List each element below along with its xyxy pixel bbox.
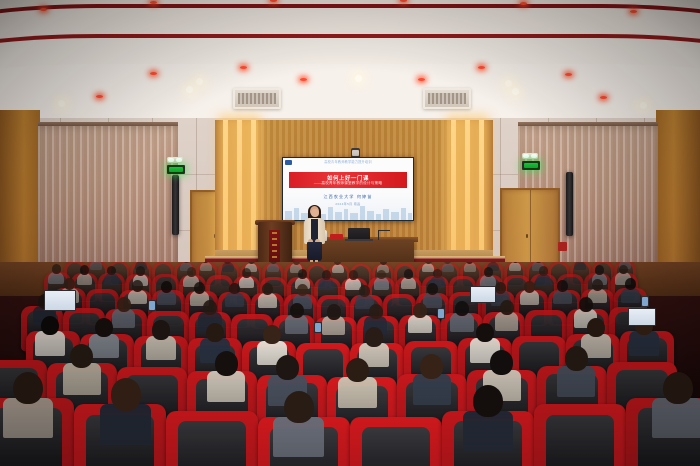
audience-member-head xyxy=(579,297,593,312)
audience-member-torso xyxy=(509,262,521,271)
downlight xyxy=(196,78,203,85)
audience-member-head xyxy=(187,267,196,277)
exit-sign-right[interactable] xyxy=(522,161,540,170)
audience-member-torso xyxy=(200,262,212,271)
audience-member-head xyxy=(276,355,299,380)
audience-member-torso xyxy=(574,262,586,270)
red-box xyxy=(330,234,343,240)
emergency-light-left xyxy=(167,157,183,163)
downlight xyxy=(58,100,65,107)
downlight xyxy=(512,88,519,95)
audience-member xyxy=(473,385,503,450)
ceiling-led xyxy=(150,72,157,75)
audience-member xyxy=(229,283,240,307)
audience-member-head xyxy=(592,279,603,291)
audience-member xyxy=(557,280,568,304)
attendee-phone[interactable] xyxy=(148,300,156,311)
audience-member-head xyxy=(524,281,535,293)
audience-member xyxy=(13,372,43,437)
audience-member xyxy=(242,268,251,287)
ceiling-led xyxy=(96,95,103,98)
audience-member xyxy=(500,300,514,330)
presenter xyxy=(302,206,326,268)
attendee-phone[interactable] xyxy=(314,322,322,333)
seat[interactable] xyxy=(534,404,626,466)
audience-member-head xyxy=(327,304,341,319)
audience-member-head xyxy=(262,283,273,295)
audience-member xyxy=(327,304,341,334)
audience-member xyxy=(625,278,636,302)
audience-member xyxy=(270,262,277,272)
audience-member xyxy=(413,303,427,333)
audience-member xyxy=(512,262,519,271)
audience-member xyxy=(404,269,413,288)
audience-member xyxy=(152,320,170,359)
audience-member-head xyxy=(242,268,251,278)
audience-member-head xyxy=(117,297,131,312)
audience-member xyxy=(95,318,113,357)
audience-member xyxy=(132,280,143,304)
audience-member-head xyxy=(229,283,240,295)
audience-member-head xyxy=(284,391,314,423)
audience-member-head xyxy=(619,265,628,275)
audience-member-head xyxy=(107,266,116,276)
audience-member-head xyxy=(111,378,141,410)
attendee-laptop[interactable] xyxy=(470,286,496,303)
presenter-face xyxy=(311,209,319,217)
audience-member xyxy=(111,378,141,443)
audience-seating xyxy=(0,262,700,466)
audience-member xyxy=(425,262,432,272)
curtain-rod xyxy=(518,122,658,126)
audience-member-head xyxy=(349,270,358,280)
audience-member-head xyxy=(95,318,113,337)
audience-member-head xyxy=(495,282,506,294)
audience-member xyxy=(444,262,451,272)
audience-member xyxy=(92,262,99,269)
audience-member-torso xyxy=(621,288,639,303)
ceiling-led xyxy=(520,2,527,5)
downlight xyxy=(505,80,512,87)
audience-member xyxy=(484,267,493,286)
audience-member xyxy=(161,281,172,305)
audience-member-torso xyxy=(338,377,377,408)
wall-light-strip xyxy=(451,120,456,268)
emergency-light-right xyxy=(522,153,538,159)
wall-light-strip xyxy=(251,120,256,268)
microphone-arm xyxy=(378,230,390,231)
audience-member-head xyxy=(298,269,307,279)
ceiling-led xyxy=(600,96,607,99)
audience-member-head xyxy=(194,282,205,294)
ceiling-led xyxy=(300,78,307,81)
audience-member-torso xyxy=(267,263,279,272)
audience-member-head xyxy=(500,300,514,315)
audience-member-head xyxy=(290,303,304,318)
audience-member-torso xyxy=(63,363,102,394)
audience-member xyxy=(427,283,438,307)
audience-member-head xyxy=(377,270,386,280)
downlight xyxy=(640,102,647,109)
audience-member xyxy=(349,270,358,289)
audience-member-head xyxy=(365,327,383,346)
line-array-speaker-left xyxy=(172,175,179,235)
slide-header-text: 高校青年教师教学能力提升培训 xyxy=(283,159,413,164)
audience-member xyxy=(262,283,273,307)
ceiling-led xyxy=(150,1,157,4)
slide-presenter-line: 江西农业大学 何婷苗 xyxy=(283,194,413,200)
attendee-laptop[interactable] xyxy=(44,290,76,311)
audience-member-head xyxy=(136,266,145,276)
wall-light-strip xyxy=(237,120,242,268)
exit-door-right[interactable] xyxy=(500,188,560,272)
audience-member-head xyxy=(404,269,413,279)
audience-member-head xyxy=(455,301,469,316)
audience-member-head xyxy=(64,278,75,290)
audience-member-head xyxy=(52,264,61,274)
audience-member-head xyxy=(663,372,693,404)
downlight xyxy=(186,86,193,93)
slide-title-band: 如何上好一门课 ——高校青年教师课堂教学的设计与策略 xyxy=(289,172,407,188)
audience-member-torso xyxy=(90,262,102,270)
audience-member-head xyxy=(490,350,513,375)
wall-light-strip xyxy=(223,120,228,268)
audience-member xyxy=(663,372,693,437)
audience-member xyxy=(41,316,59,355)
audience-member-head xyxy=(359,285,370,297)
audience-member-head xyxy=(625,278,636,290)
door-handle[interactable] xyxy=(526,234,528,238)
audience-member xyxy=(592,279,603,303)
downlight xyxy=(355,75,362,82)
audience-member-head xyxy=(132,280,143,292)
audience-member xyxy=(224,262,231,271)
ceiling-led xyxy=(630,10,637,13)
ceiling-led xyxy=(418,78,425,81)
audience-member xyxy=(565,346,588,396)
line-array-speaker-right xyxy=(566,172,573,236)
audience-member-head xyxy=(322,270,331,280)
audience-member xyxy=(334,262,341,273)
audience-member-head xyxy=(565,346,588,371)
presenter-skirt xyxy=(307,242,322,261)
audience-member xyxy=(107,266,116,285)
audience-member-head xyxy=(557,280,568,292)
audience-member-head xyxy=(41,316,59,335)
audience-member xyxy=(539,266,548,285)
audience-member-torso xyxy=(374,277,389,289)
audience-member xyxy=(377,270,386,289)
ceiling-led xyxy=(40,8,47,11)
audience-member xyxy=(52,264,61,283)
audience-member xyxy=(420,354,443,404)
audience-member xyxy=(70,344,93,394)
audience-member-head xyxy=(369,304,383,319)
audience-member-torso xyxy=(112,309,136,328)
laptop-keyboard[interactable] xyxy=(345,239,373,241)
slide-subtitle: ——高校青年教师课堂教学的设计与策略 xyxy=(289,181,407,186)
audience-member-head xyxy=(203,300,217,315)
audience-member-head xyxy=(70,344,93,369)
ceiling-led xyxy=(565,73,572,76)
audience-member-head xyxy=(215,351,238,376)
audience-member-head xyxy=(433,269,442,279)
audience-member xyxy=(80,265,89,284)
audience-member-head xyxy=(420,354,443,379)
audience-member-head xyxy=(138,262,145,263)
audience-member xyxy=(290,303,304,333)
audience-member-head xyxy=(539,266,548,276)
audience-member xyxy=(466,262,473,271)
audience-member-head xyxy=(152,320,170,339)
audience-member-head xyxy=(80,265,89,275)
audience-member-head xyxy=(476,323,494,342)
audience-member xyxy=(346,358,369,408)
podium-banner xyxy=(269,230,280,264)
audience-member-head xyxy=(206,323,224,342)
fire-extinguisher-cabinet[interactable] xyxy=(558,242,567,251)
audience-member-head xyxy=(13,372,43,404)
attendee-phone[interactable] xyxy=(641,296,649,307)
audience-member xyxy=(284,391,314,456)
curtain-left xyxy=(38,122,178,272)
seat[interactable] xyxy=(166,411,258,466)
audience-member-torso xyxy=(332,264,344,273)
ceiling-led xyxy=(240,66,247,69)
attendee-phone[interactable] xyxy=(437,308,445,319)
audience-member-torso xyxy=(225,292,243,307)
wall-light-strip xyxy=(465,120,470,268)
seat[interactable] xyxy=(350,417,442,466)
audience-member-head xyxy=(484,267,493,277)
attendee-laptop[interactable] xyxy=(628,308,656,326)
audience-member-head xyxy=(161,281,172,293)
audience-member-head xyxy=(473,385,503,417)
exit-sign-left[interactable] xyxy=(167,165,185,174)
audience-member-head xyxy=(587,318,605,337)
audience-member xyxy=(215,351,238,401)
microphone-stand xyxy=(378,231,379,240)
audience-member xyxy=(455,301,469,331)
ceiling-vent xyxy=(233,88,281,109)
audience-member-head xyxy=(595,265,604,275)
curtain-rod xyxy=(38,122,178,126)
audience-member-torso xyxy=(258,293,276,308)
audience-member-torso xyxy=(104,273,119,285)
audience-member xyxy=(576,262,583,270)
audience-member xyxy=(524,281,535,305)
audience-member xyxy=(117,297,131,327)
audience-member xyxy=(202,262,209,271)
audience-member xyxy=(587,318,605,357)
audience-member-head xyxy=(346,358,369,383)
audience-member-head xyxy=(413,303,427,318)
ceiling-vent xyxy=(423,88,471,109)
audience-member-head xyxy=(297,284,308,296)
audience-member xyxy=(322,270,331,289)
audience-member-head xyxy=(427,283,438,295)
ceiling-led xyxy=(478,66,485,69)
audience-member-torso xyxy=(450,313,474,332)
wall-light-strip xyxy=(479,120,484,268)
auditorium-photo: 高校青年教师教学能力提升培训 如何上好一门课 ——高校青年教师课堂教学的设计与策… xyxy=(0,0,700,466)
audience-member-head xyxy=(263,325,281,344)
